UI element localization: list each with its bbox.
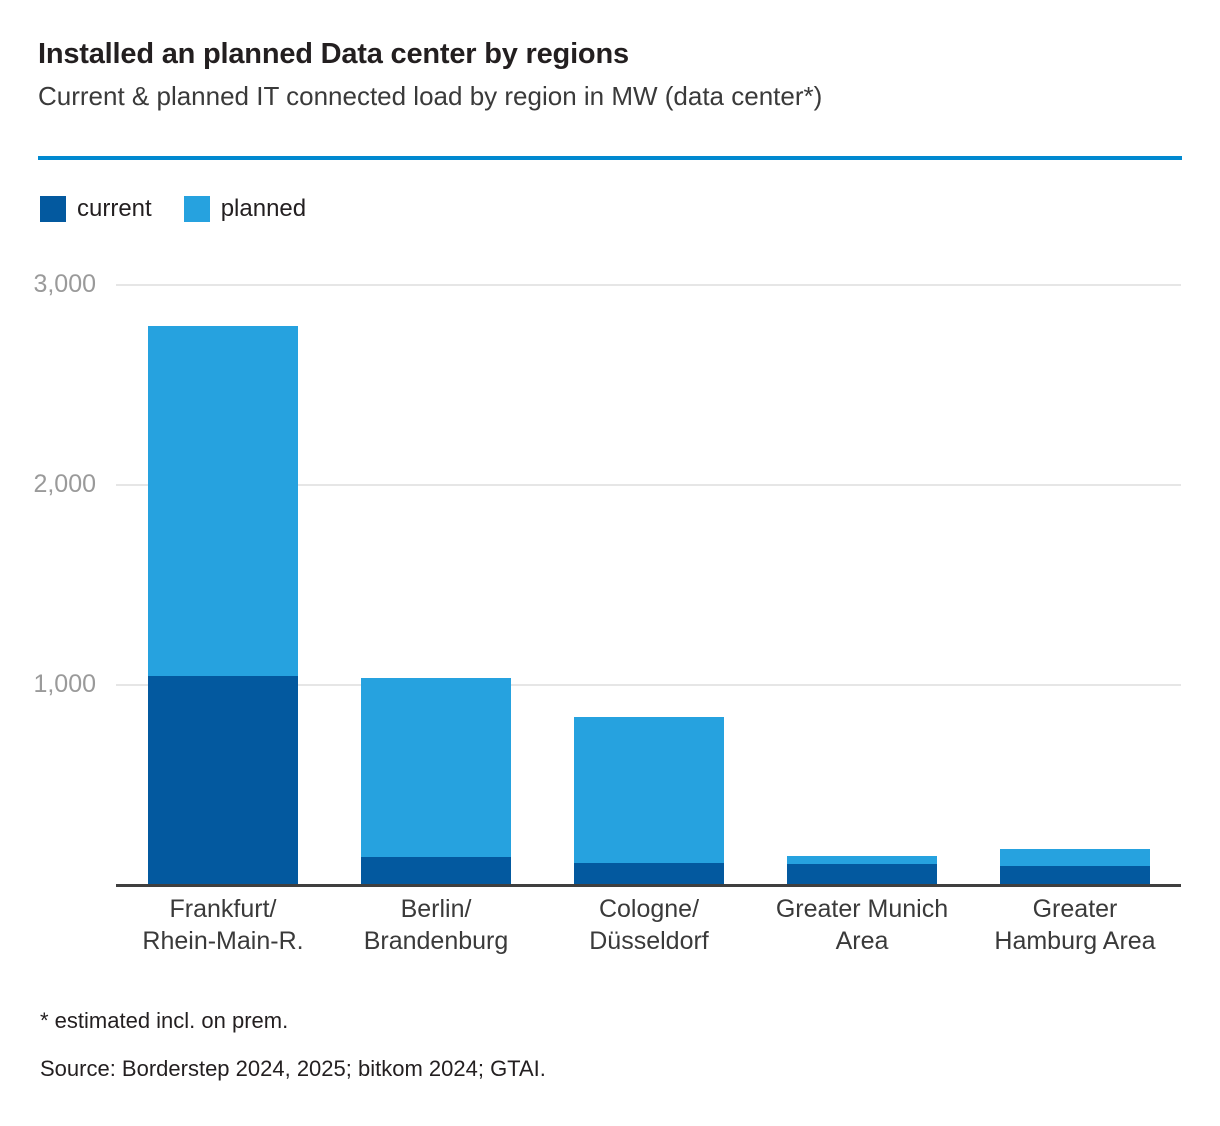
x-axis-label-frankfurt: Frankfurt/ Rhein-Main-R. (103, 893, 343, 957)
bar-segment-current-hamburg[interactable] (1000, 866, 1150, 884)
page-title: Installed an planned Data center by regi… (38, 38, 1182, 71)
x-axis-label-frankfurt-line2: Rhein-Main-R. (103, 925, 343, 957)
x-axis-label-hamburg: Greater Hamburg Area (955, 893, 1195, 957)
x-axis-label-frankfurt-line1: Frankfurt/ (103, 893, 343, 925)
x-axis-labels: Frankfurt/ Rhein-Main-R. Berlin/ Branden… (116, 893, 1181, 973)
bar-group-cologne[interactable] (574, 717, 724, 884)
y-axis-label-3000: 3,000 (0, 272, 96, 297)
chart-legend: current planned (40, 196, 306, 222)
legend-label-planned: planned (221, 197, 306, 221)
chart-header: Installed an planned Data center by regi… (38, 38, 1182, 113)
bar-segment-current-berlin[interactable] (361, 857, 511, 884)
header-divider (38, 156, 1182, 160)
bar-segment-planned-cologne[interactable] (574, 717, 724, 863)
bar-group-munich[interactable] (787, 856, 937, 884)
bar-segment-planned-hamburg[interactable] (1000, 849, 1150, 866)
footnote-estimate: * estimated incl. on prem. (40, 1008, 1160, 1034)
x-axis-line (116, 884, 1181, 887)
x-axis-label-hamburg-line2: Hamburg Area (955, 925, 1195, 957)
bar-group-hamburg[interactable] (1000, 849, 1150, 884)
bar-group-frankfurt[interactable] (148, 326, 298, 884)
bar-segment-current-munich[interactable] (787, 864, 937, 884)
x-axis-label-hamburg-line1: Greater (955, 893, 1195, 925)
x-axis-label-cologne-line1: Cologne/ (529, 893, 769, 925)
chart-subtitle: Current & planned IT connected load by r… (38, 81, 1182, 112)
bar-series-container (116, 284, 1181, 884)
x-axis-label-berlin-line2: Brandenburg (316, 925, 556, 957)
x-axis-label-munich-line1: Greater Munich (742, 893, 982, 925)
bar-segment-planned-munich[interactable] (787, 856, 937, 864)
chart-page: Installed an planned Data center by regi… (0, 0, 1220, 1126)
y-axis-label-1000: 1,000 (0, 672, 96, 697)
x-axis-label-cologne: Cologne/ Düsseldorf (529, 893, 769, 957)
y-axis-label-2000: 2,000 (0, 472, 96, 497)
chart-footnotes: * estimated incl. on prem. Source: Borde… (40, 1008, 1160, 1083)
x-axis-label-berlin: Berlin/ Brandenburg (316, 893, 556, 957)
bar-group-berlin[interactable] (361, 678, 511, 884)
footnote-source: Source: Borderstep 2024, 2025; bitkom 20… (40, 1056, 1160, 1082)
bar-segment-current-frankfurt[interactable] (148, 676, 298, 884)
x-axis-label-cologne-line2: Düsseldorf (529, 925, 769, 957)
x-axis-label-munich-line2: Area (742, 925, 982, 957)
bar-segment-planned-frankfurt[interactable] (148, 326, 298, 676)
legend-swatch-current (40, 196, 66, 222)
legend-item-planned[interactable]: planned (184, 196, 306, 222)
x-axis-label-munich: Greater Munich Area (742, 893, 982, 957)
legend-item-current[interactable]: current (40, 196, 152, 222)
bar-segment-current-cologne[interactable] (574, 863, 724, 884)
plot-area: 3,000 2,000 1,000 (116, 284, 1181, 884)
legend-label-current: current (77, 197, 152, 221)
bar-segment-planned-berlin[interactable] (361, 678, 511, 857)
x-axis-label-berlin-line1: Berlin/ (316, 893, 556, 925)
legend-swatch-planned (184, 196, 210, 222)
